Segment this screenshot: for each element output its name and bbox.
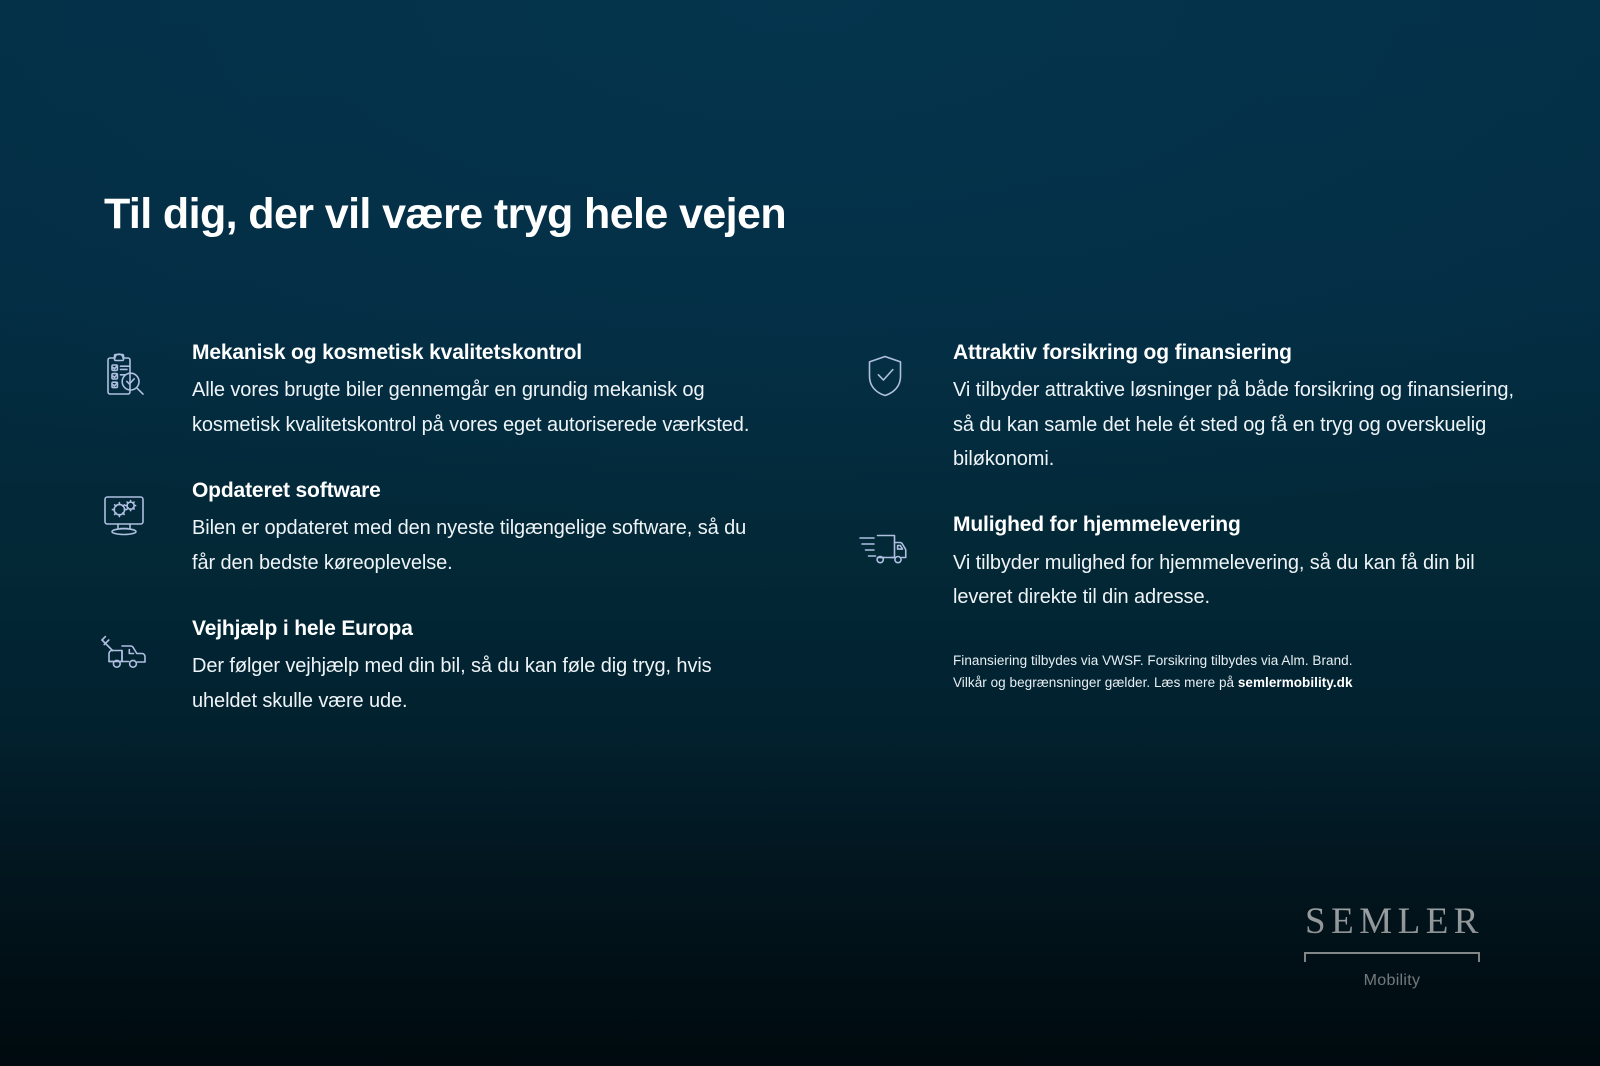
semler-mobility-logo: SEMLER Mobility xyxy=(1296,903,1488,990)
page-title: Til dig, der vil være tryg hele vejen xyxy=(104,190,786,239)
fineprint-line-1: Finansiering tilbydes via VWSF. Forsikri… xyxy=(953,650,1473,672)
features-columns: Mekanisk og kosmetisk kvalitetskontrol A… xyxy=(96,340,1516,718)
feature-roadside-assistance: Vejhjælp i hele Europa Der følger vejhjæ… xyxy=(96,616,753,718)
feature-title: Attraktiv forsikring og finansiering xyxy=(953,340,1516,366)
logo-wordmark: SEMLER xyxy=(1296,903,1488,940)
feature-text: Attraktiv forsikring og finansiering Vi … xyxy=(953,340,1516,476)
delivery-truck-icon xyxy=(857,512,953,576)
fineprint-line-2-text: Vilkår og begrænsninger gælder. Læs mere… xyxy=(953,675,1238,690)
feature-home-delivery: Mulighed for hjemmelevering Vi tilbyder … xyxy=(857,512,1516,614)
right-feature-column: Attraktiv forsikring og finansiering Vi … xyxy=(857,340,1516,718)
logo-divider xyxy=(1304,952,1480,963)
logo-divider-tick-left xyxy=(1304,952,1306,962)
feature-title: Vejhjælp i hele Europa xyxy=(192,616,753,642)
feature-insurance-financing: Attraktiv forsikring og finansiering Vi … xyxy=(857,340,1516,476)
monitor-gears-icon xyxy=(96,478,192,542)
feature-title: Mekanisk og kosmetisk kvalitetskontrol xyxy=(192,340,753,366)
feature-text: Opdateret software Bilen er opdateret me… xyxy=(192,478,753,580)
left-feature-column: Mekanisk og kosmetisk kvalitetskontrol A… xyxy=(96,340,753,718)
feature-text: Mulighed for hjemmelevering Vi tilbyder … xyxy=(953,512,1516,614)
promo-panel: Til dig, der vil være tryg hele vejen xyxy=(0,0,1600,1066)
feature-description: Vi tilbyder attraktive løsninger på både… xyxy=(953,373,1516,476)
feature-description: Der følger vejhjælp med din bil, så du k… xyxy=(192,649,753,718)
feature-text: Vejhjælp i hele Europa Der følger vejhjæ… xyxy=(192,616,753,718)
legal-fineprint: Finansiering tilbydes via VWSF. Forsikri… xyxy=(953,650,1473,694)
feature-description: Alle vores brugte biler gennemgår en gru… xyxy=(192,373,753,442)
feature-description: Bilen er opdateret med den nyeste tilgæn… xyxy=(192,511,753,580)
feature-text: Mekanisk og kosmetisk kvalitetskontrol A… xyxy=(192,340,753,442)
feature-description: Vi tilbyder mulighed for hjemmelevering,… xyxy=(953,546,1516,615)
logo-divider-tick-right xyxy=(1478,952,1480,962)
tow-truck-icon xyxy=(96,616,192,680)
fineprint-line-2: Vilkår og begrænsninger gælder. Læs mere… xyxy=(953,672,1473,694)
logo-subtitle: Mobility xyxy=(1296,972,1488,990)
shield-check-icon xyxy=(857,340,953,404)
feature-title: Opdateret software xyxy=(192,478,753,504)
fineprint-link[interactable]: semlermobility.dk xyxy=(1238,675,1353,690)
feature-updated-software: Opdateret software Bilen er opdateret me… xyxy=(96,478,753,580)
clipboard-check-magnifier-icon xyxy=(96,340,192,404)
feature-title: Mulighed for hjemmelevering xyxy=(953,512,1516,538)
feature-quality-control: Mekanisk og kosmetisk kvalitetskontrol A… xyxy=(96,340,753,442)
